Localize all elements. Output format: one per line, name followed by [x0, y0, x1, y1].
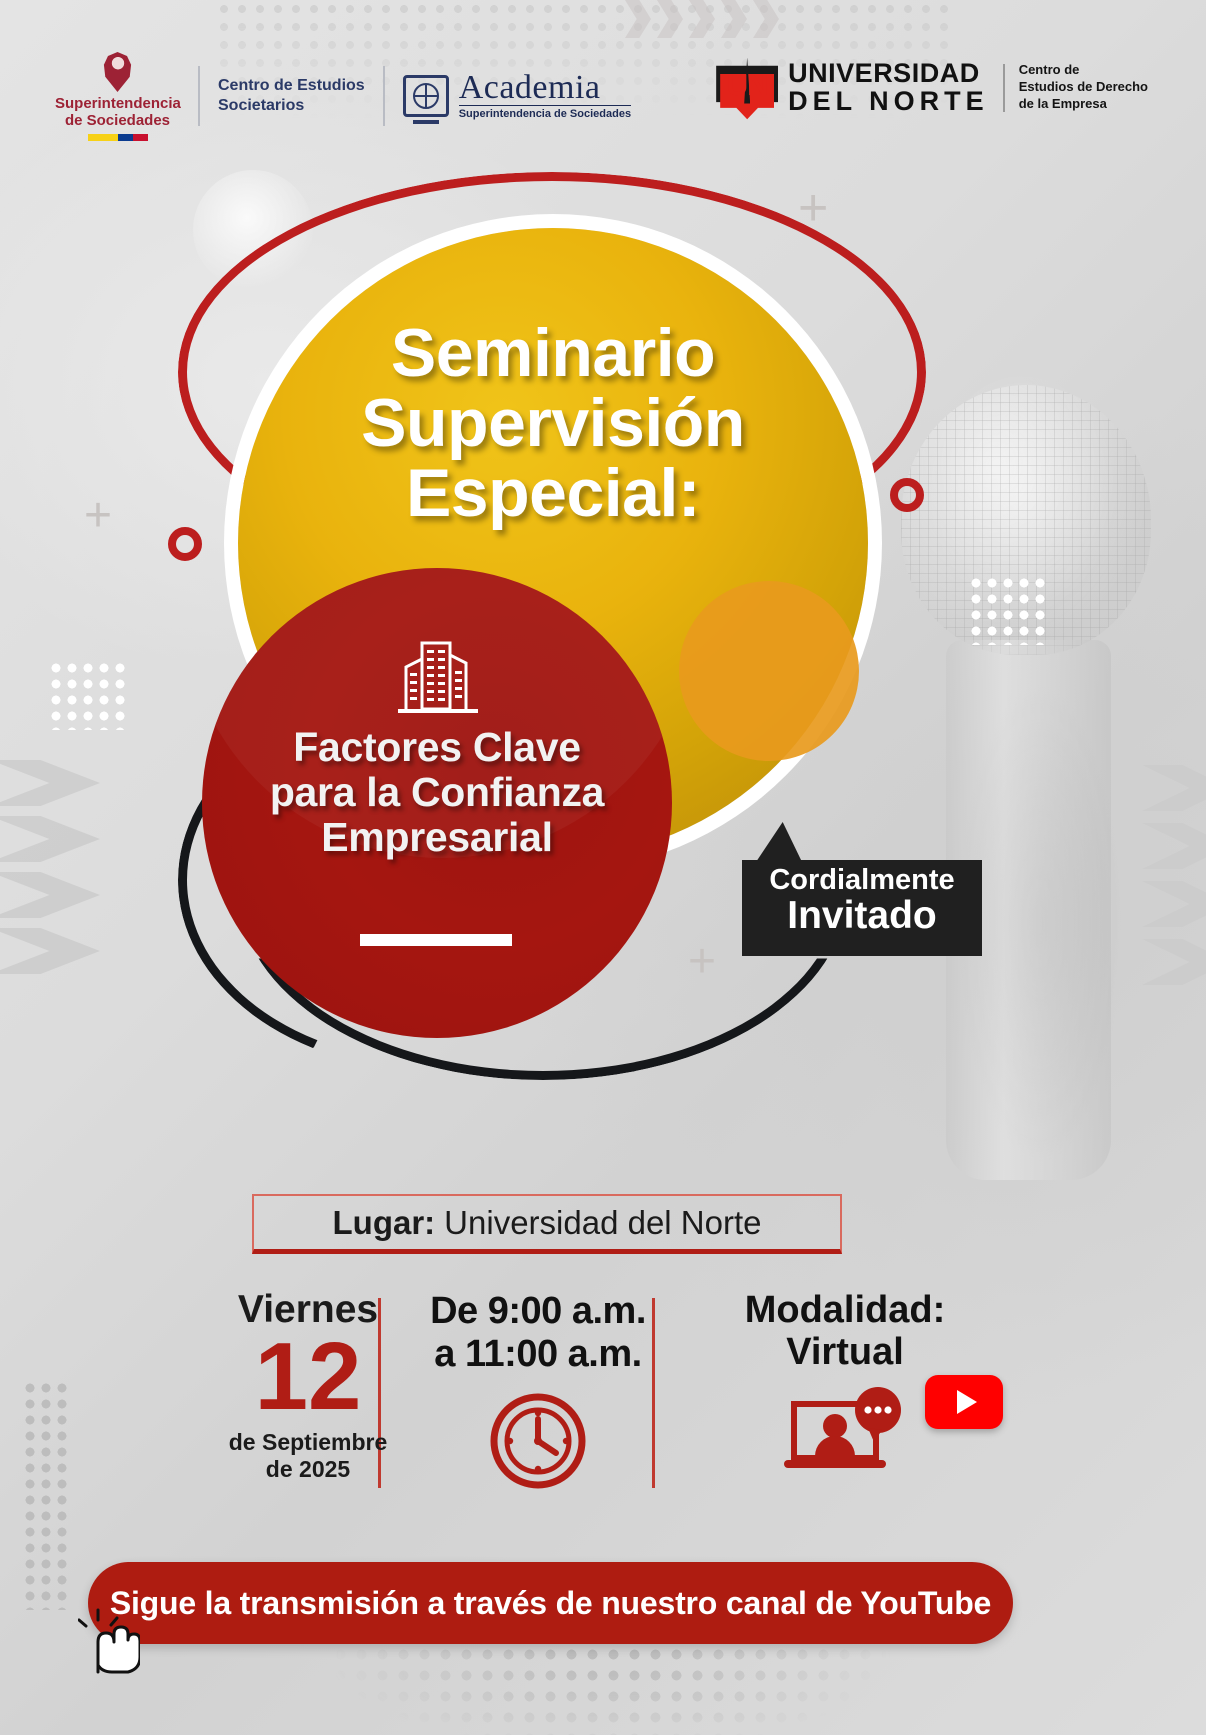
- red-ring-endpoint-right: [890, 478, 924, 512]
- buildings-icon: [392, 637, 484, 721]
- globe-icon: [413, 83, 439, 109]
- plus-decor-2: +: [84, 492, 112, 540]
- uninorte-sub2: Estudios de Derecho: [1019, 79, 1148, 96]
- academia-sub: Superintendencia de Sociedades: [459, 105, 631, 120]
- dot-grid-right: [968, 575, 1050, 645]
- click-hand-icon: [78, 1590, 140, 1680]
- invitation-badge: Cordialmente Invitado: [742, 860, 982, 956]
- title-line-1: Seminario: [253, 318, 853, 388]
- page-subtitle: Factores Clave para la Confianza Empresa…: [212, 725, 662, 860]
- uninorte-wordmark: UNIVERSIDAD DEL NORTE: [788, 60, 989, 115]
- badge-line-1: Cordialmente: [742, 864, 982, 896]
- orange-circle-accent: [679, 581, 859, 761]
- logo-group-right: UN UNIVERSIDAD DEL NORTE Centro de Estud…: [716, 60, 1148, 115]
- monitor-globe-icon: [403, 75, 449, 117]
- logo-divider-2: [383, 66, 385, 126]
- chevron-decor-right: [1142, 765, 1206, 1015]
- header-logos: Superintendencia de Sociedades Centro de…: [0, 52, 1206, 142]
- chevron-decor-left: [0, 760, 110, 1040]
- uninorte-line1: UNIVERSIDAD: [788, 60, 989, 88]
- uninorte-sub3: de la Empresa: [1019, 96, 1148, 113]
- centro-line2: Societarios: [218, 96, 365, 116]
- subtitle-underline: [360, 934, 512, 946]
- dot-grid-bottom-left: [22, 1380, 72, 1610]
- time-line-1: De 9:00 a.m.: [388, 1290, 688, 1333]
- chevron-decor-top: [625, 0, 840, 40]
- page-title: Seminario Supervisión Especial:: [253, 318, 853, 528]
- subtitle-line-1: Factores Clave: [212, 725, 662, 770]
- logo-divider-1: [198, 66, 200, 126]
- virtual-meeting-icon: [782, 1386, 908, 1482]
- poster-canvas: + + + Superintendencia de Sociedades Cen…: [0, 0, 1206, 1735]
- clock-icon: [486, 1389, 590, 1493]
- venue-box: Lugar: Universidad del Norte: [252, 1194, 842, 1254]
- supersociedades-line1: Superintendencia: [55, 95, 180, 112]
- logo-group-left: Superintendencia de Sociedades Centro de…: [55, 52, 631, 141]
- colombia-crest-icon: [101, 52, 135, 92]
- time-block: De 9:00 a.m. a 11:00 a.m.: [388, 1290, 688, 1493]
- uninorte-divider: [1003, 64, 1005, 112]
- title-line-3: Especial:: [253, 458, 853, 528]
- uninorte-sub1: Centro de: [1019, 62, 1148, 79]
- supersociedades-line2: de Sociedades: [55, 112, 180, 129]
- centro-line1: Centro de Estudios: [218, 76, 365, 96]
- time-line-2: a 11:00 a.m.: [388, 1333, 688, 1376]
- youtube-cta-text: Sigue la transmisión a través de nuestro…: [110, 1585, 991, 1622]
- venue-label: Lugar:: [333, 1204, 436, 1242]
- dot-grid-left: [48, 660, 130, 730]
- un-monogram: UN: [716, 62, 778, 114]
- badge-line-2: Invitado: [742, 896, 982, 937]
- academia-word: Academia: [459, 72, 631, 104]
- uninorte-subtitle: Centro de Estudios de Derecho de la Empr…: [1019, 62, 1148, 113]
- logo-centro-estudios: Centro de Estudios Societarios: [218, 76, 365, 116]
- colombia-flag-icon: [88, 134, 148, 141]
- uninorte-line2: DEL NORTE: [788, 88, 989, 116]
- logo-superintendencia: Superintendencia de Sociedades: [55, 52, 180, 141]
- youtube-play-icon[interactable]: [925, 1375, 1003, 1429]
- red-ring-endpoint-left: [168, 527, 202, 561]
- logo-academia: Academia Superintendencia de Sociedades: [403, 72, 631, 120]
- youtube-cta-bar[interactable]: Sigue la transmisión a través de nuestro…: [88, 1562, 1013, 1644]
- venue-value: Universidad del Norte: [444, 1204, 761, 1242]
- modality-label: Modalidad:: [680, 1290, 1010, 1332]
- uninorte-mark-icon: UN: [716, 62, 778, 114]
- subtitle-line-2: para la Confianza: [212, 770, 662, 815]
- subtitle-line-3: Empresarial: [212, 815, 662, 860]
- title-line-2: Supervisión: [253, 388, 853, 458]
- modality-value: Virtual: [680, 1332, 1010, 1374]
